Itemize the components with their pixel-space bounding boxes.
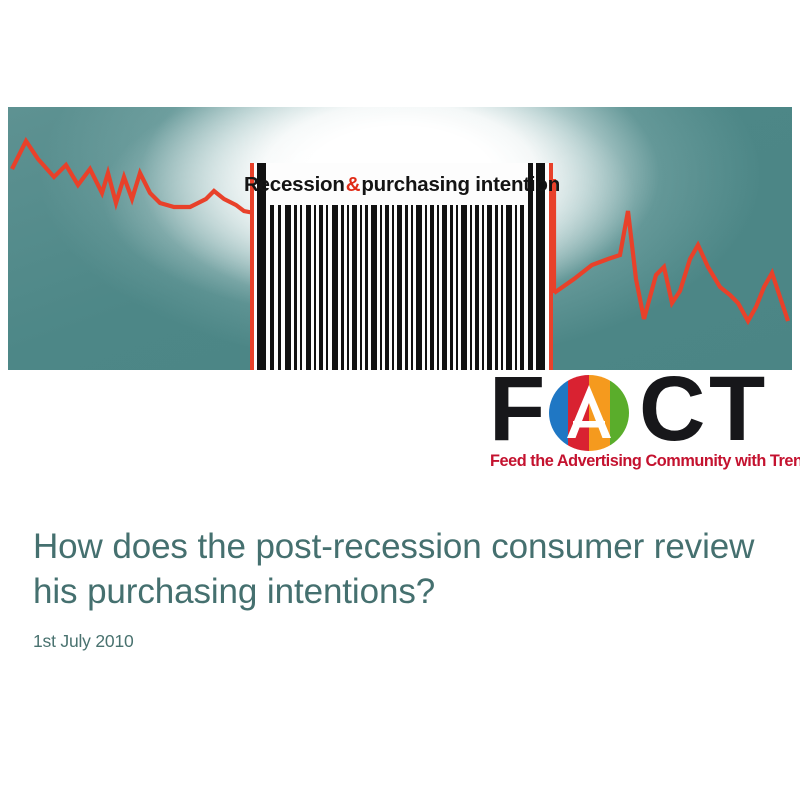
barcode-caption: Recession & purchasing intention: [266, 168, 538, 202]
fact-logo: F C T: [487, 372, 792, 480]
logo-mark-segment-green: [610, 374, 631, 452]
trend-line-left-series: [12, 141, 254, 213]
slide-canvas: Recession & purchasing intention F C T: [0, 0, 800, 800]
barcode-caption-ampersand: &: [345, 173, 362, 197]
logo-letter-t: T: [709, 368, 761, 450]
page-title: How does the post-recession consumer rev…: [33, 524, 759, 614]
slide-headline: How does the post-recession consumer rev…: [33, 524, 759, 652]
trend-line-right-series: [554, 211, 788, 321]
slide-date: 1st July 2010: [33, 630, 759, 652]
barcode-caption-suffix: purchasing intention: [361, 173, 560, 197]
logo-letter-f: F: [489, 368, 541, 450]
recession-hero-banner: Recession & purchasing intention: [8, 107, 792, 370]
logo-letter-c: C: [639, 368, 701, 450]
logo-mark-segment-blue: [547, 374, 568, 452]
fact-wordmark: F C T: [487, 372, 792, 454]
logo-tagline: Feed the Advertising Community with Tren…: [490, 452, 792, 471]
barcode-caption-prefix: Recession: [244, 173, 345, 197]
logo-letter-a-mark-icon: [547, 374, 631, 452]
barcode-graphic: Recession & purchasing intention: [244, 163, 562, 370]
